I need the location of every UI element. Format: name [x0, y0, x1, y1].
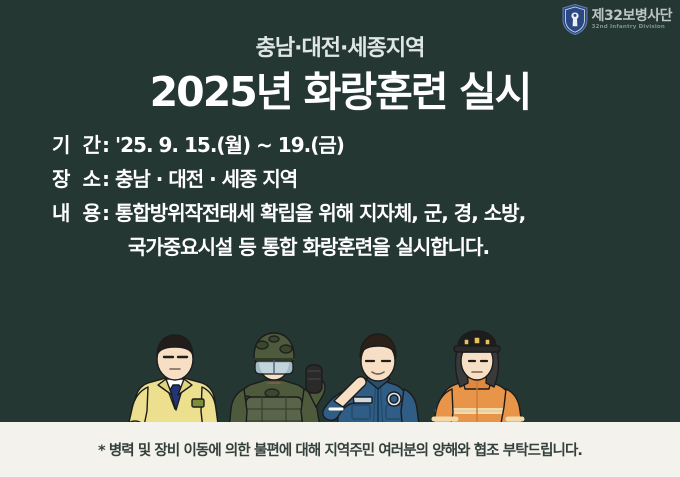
info-value-period: '25. 9. 15.(월) ~ 19.(금)	[115, 128, 652, 162]
info-row-location: 장 소 : 충남 · 대전 · 세종 지역	[52, 162, 652, 196]
division-logo-text: 제32보병사단 32nd Infantry Division	[592, 9, 672, 31]
info-colon-content: :	[100, 196, 115, 230]
page-title: 2025년 화랑훈련 실시	[0, 58, 680, 118]
info-label-period-char1: 기	[52, 128, 69, 162]
info-row-period: 기 간 : '25. 9. 15.(월) ~ 19.(금)	[52, 128, 652, 162]
info-value-content-continued: 국가중요시설 등 통합 화랑훈련을 실시합니다.	[128, 230, 489, 264]
info-value-content: 통합방위작전태세 확립을 위해 지자체, 군, 경, 소방,	[115, 196, 652, 230]
info-label-content-char2: 용	[83, 196, 100, 230]
info-label-content-char1: 내	[52, 196, 69, 230]
info-label-location-char2: 소	[83, 162, 100, 196]
info-label-location-char1: 장	[52, 162, 69, 196]
info-label-period-char2: 간	[83, 128, 100, 162]
info-colon-location: :	[100, 162, 115, 196]
info-list: 기 간 : '25. 9. 15.(월) ~ 19.(금) 장 소 : 충남 ·…	[52, 128, 652, 264]
info-label-location: 장 소	[52, 162, 100, 196]
info-row-content-continued: 국가중요시설 등 통합 화랑훈련을 실시합니다.	[52, 230, 652, 264]
division-name-ko: 제32보병사단	[592, 9, 672, 23]
info-label-content: 내 용	[52, 196, 100, 230]
info-label-period: 기 간	[52, 128, 100, 162]
poster-root: 제32보병사단 32nd Infantry Division 충남·대전·세종지…	[0, 0, 680, 477]
footer-bar: * 병력 및 장비 이동에 의한 불편에 대해 지역주민 여러분의 양해와 협조…	[0, 422, 680, 477]
info-colon-period: :	[100, 128, 115, 162]
info-row-content: 내 용 : 통합방위작전태세 확립을 위해 지자체, 군, 경, 소방,	[52, 196, 652, 230]
footer-note: * 병력 및 장비 이동에 의한 불편에 대해 지역주민 여러분의 양해와 협조…	[98, 439, 582, 460]
info-value-location: 충남 · 대전 · 세종 지역	[115, 162, 652, 196]
